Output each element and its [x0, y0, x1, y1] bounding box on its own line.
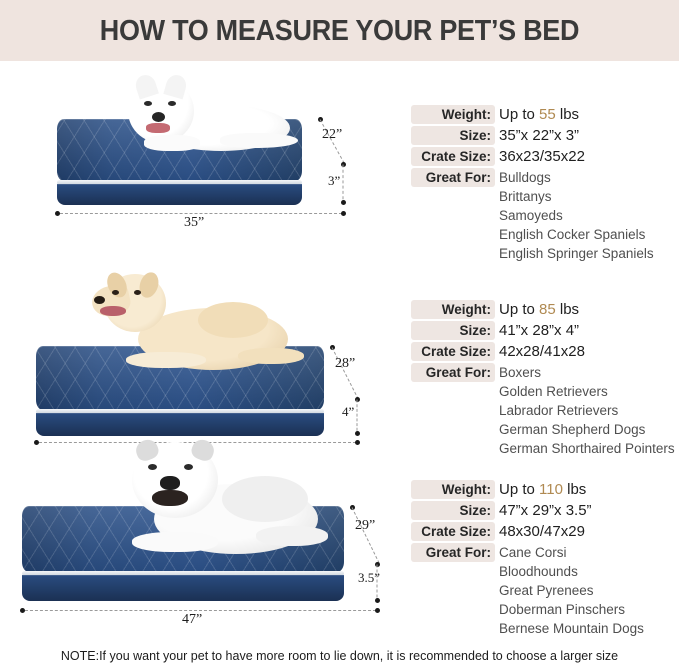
- dim-dot-width-right: [341, 211, 346, 216]
- footer-note: NOTE:If you want your pet to have more r…: [0, 648, 679, 664]
- breed-item: Bulldogs: [499, 168, 551, 187]
- spec-value-weight: Up to 55 lbs: [499, 105, 579, 124]
- spec-row-size: Size: 41”x 28”x 4”: [407, 321, 679, 340]
- spec-row-great-for: Great For: Bulldogs Brittanys Samoyeds E…: [407, 168, 679, 266]
- bed-illustration-medium: 22” 3” 35”: [0, 61, 400, 258]
- spec-row-weight: Weight: Up to 110 lbs: [407, 480, 679, 499]
- weight-number: 110: [539, 481, 563, 498]
- spec-label-crate-size: Crate Size:: [411, 342, 495, 361]
- bed-graphic: [22, 506, 344, 572]
- spec-table-medium: Weight: Up to 55 lbs Size: 35”x 22”x 3” …: [407, 105, 679, 268]
- bed-graphic: [57, 119, 302, 181]
- breed-item: Cane Corsi: [499, 543, 567, 562]
- weight-suffix: lbs: [556, 106, 579, 123]
- dim-dot-height-bottom: [375, 598, 380, 603]
- quilt-pattern: [22, 506, 344, 572]
- dim-label-height: 4”: [342, 404, 354, 420]
- breed-item: English Cocker Spaniels: [499, 225, 645, 244]
- breed-item: Golden Retrievers: [499, 382, 608, 401]
- weight-suffix: lbs: [563, 481, 586, 498]
- breed-item: Doberman Pinschers: [499, 600, 625, 619]
- dim-label-height: 3.5”: [358, 570, 380, 586]
- breed-item: Bernese Mountain Dogs: [499, 619, 644, 638]
- spec-label-great-for: Great For:: [411, 543, 495, 562]
- dim-label-height: 3”: [328, 173, 340, 189]
- bed-illustration-xlarge: 29” 3.5” 47”: [0, 436, 400, 636]
- spec-label-size: Size:: [411, 126, 495, 145]
- quilt-pattern: [36, 346, 324, 410]
- spec-label-great-for: Great For:: [411, 168, 495, 187]
- weight-suffix: lbs: [556, 301, 579, 318]
- breed-item: Great Pyrenees: [499, 581, 594, 600]
- breed-item: Brittanys: [499, 187, 552, 206]
- spec-label-great-for: Great For:: [411, 363, 495, 382]
- bed-top-surface: [36, 346, 324, 410]
- dim-label-width: 35”: [184, 215, 204, 231]
- spec-value-size: 41”x 28”x 4”: [499, 321, 579, 340]
- weight-prefix: Up to: [499, 106, 539, 123]
- spec-value-crate-size: 48x30/47x29: [499, 522, 585, 541]
- size-row-xlarge: 29” 3.5” 47” Weight: Up to 110 lbs Size:…: [0, 436, 679, 636]
- spec-row-weight: Weight: Up to 85 lbs: [407, 300, 679, 319]
- bed-graphic: [36, 346, 324, 410]
- dim-dot-height-bottom: [341, 200, 346, 205]
- size-row-medium: 22” 3” 35” Weight: Up to 55 lbs Size: 35…: [0, 61, 679, 258]
- spec-label-weight: Weight:: [411, 105, 495, 124]
- spec-label-size: Size:: [411, 501, 495, 520]
- breed-item: Bloodhounds: [499, 562, 578, 581]
- breed-item: Labrador Retrievers: [499, 401, 618, 420]
- spec-row-weight: Weight: Up to 55 lbs: [407, 105, 679, 124]
- dim-line-width: [25, 610, 376, 611]
- dim-label-depth: 28”: [335, 356, 355, 372]
- quilt-pattern: [57, 119, 302, 181]
- spec-value-size: 35”x 22”x 3”: [499, 126, 579, 145]
- bed-side-panel: [57, 184, 302, 205]
- spec-row-crate-size: Crate Size: 36x23/35x22: [407, 147, 679, 166]
- dim-line-height: [343, 165, 344, 205]
- spec-value-weight: Up to 110 lbs: [499, 480, 586, 499]
- dim-label-depth: 29”: [355, 518, 375, 534]
- spec-value-weight: Up to 85 lbs: [499, 300, 579, 319]
- spec-value-crate-size: 36x23/35x22: [499, 147, 585, 166]
- size-row-large: 28” 4” 41” Weight: Up to 85 lbs Size: 41…: [0, 258, 679, 436]
- weight-number: 55: [539, 106, 556, 123]
- spec-label-size: Size:: [411, 321, 495, 340]
- spec-label-weight: Weight:: [411, 480, 495, 499]
- dim-line-depth: [352, 507, 380, 563]
- spec-table-xlarge: Weight: Up to 110 lbs Size: 47”x 29”x 3.…: [407, 480, 679, 643]
- bed-side-panel: [22, 575, 344, 601]
- spec-value-crate-size: 42x28/41x28: [499, 342, 585, 361]
- dim-label-depth: 22”: [322, 127, 342, 143]
- spec-row-crate-size: Crate Size: 42x28/41x28: [407, 342, 679, 361]
- page-title: HOW TO MEASURE YOUR PET’S BED: [24, 13, 655, 49]
- weight-prefix: Up to: [499, 481, 539, 498]
- spec-label-crate-size: Crate Size:: [411, 522, 495, 541]
- spec-row-size: Size: 35”x 22”x 3”: [407, 126, 679, 145]
- breed-item: Samoyeds: [499, 206, 563, 225]
- weight-prefix: Up to: [499, 301, 539, 318]
- bed-top-surface: [22, 506, 344, 572]
- spec-row-size: Size: 47”x 29”x 3.5”: [407, 501, 679, 520]
- dim-line-width: [60, 213, 342, 214]
- spec-row-crate-size: Crate Size: 48x30/47x29: [407, 522, 679, 541]
- breed-item: Boxers: [499, 363, 541, 382]
- dim-label-width: 47”: [182, 612, 202, 628]
- weight-number: 85: [539, 301, 556, 318]
- bed-illustration-large: 28” 4” 41”: [0, 258, 400, 436]
- spec-label-crate-size: Crate Size:: [411, 147, 495, 166]
- spec-value-size: 47”x 29”x 3.5”: [499, 501, 592, 520]
- bed-top-surface: [57, 119, 302, 181]
- bed-side-panel: [36, 413, 324, 436]
- spec-label-weight: Weight:: [411, 300, 495, 319]
- dim-dot-width-right: [375, 608, 380, 613]
- spec-row-great-for: Great For: Cane Corsi Bloodhounds Great …: [407, 543, 679, 641]
